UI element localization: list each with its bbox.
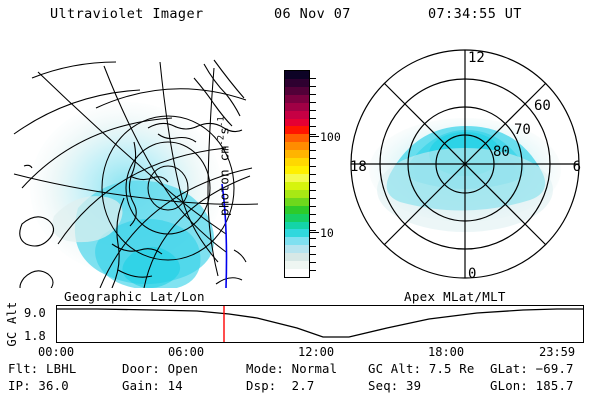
colorbar-tick (310, 94, 316, 95)
status-flt: Flt: LBHL (8, 362, 76, 376)
orbit-ytick-top: 9.0 (24, 306, 46, 320)
colorbar-tick (310, 110, 316, 111)
orbit-altitude-strip: GC Alt 9.0 1.8 00:00 06:00 12:00 18:00 2… (0, 300, 600, 358)
observation-time: 07:34:55 UT (428, 6, 522, 22)
colorbar-title-exp1: -2 (216, 135, 226, 146)
mlat-ring-label-70: 70 (514, 122, 531, 138)
status-seq: Seq: 39 (368, 379, 421, 393)
orbit-xtick-4: 23:59 (539, 345, 575, 359)
colorbar-band (285, 261, 309, 269)
colorbar-band (285, 174, 309, 182)
orbit-xtick-3: 18:00 (428, 345, 464, 359)
status-gcalt: GC Alt: 7.5 Re (368, 362, 474, 376)
colorbar-band (285, 253, 309, 261)
colorbar-band (285, 142, 309, 150)
colorbar-band (285, 119, 309, 127)
colorbar-tick (310, 206, 316, 207)
orbit-xtick-1: 06:00 (168, 345, 204, 359)
status-gain: Gain: 14 (122, 379, 183, 393)
mlt-label-6: 6 (573, 159, 581, 175)
colorbar-tick (310, 214, 316, 215)
colorbar-band (285, 103, 309, 111)
colorbar-tick (310, 262, 316, 263)
colorbar-gradient (285, 71, 309, 277)
status-panel: Flt: LBHL Door: Open Mode: Normal GC Alt… (0, 362, 600, 400)
colorbar-tick (310, 254, 316, 255)
mlat-ring-label-80: 80 (493, 144, 510, 160)
colorbar-tick-major-10 (310, 232, 319, 233)
colorbar-band (285, 269, 309, 277)
colorbar-band (285, 222, 309, 230)
colorbar-tick-major-100 (310, 136, 319, 137)
orbit-altitude-curve (57, 309, 583, 337)
orbit-plot-frame (56, 305, 584, 343)
colorbar-tick (310, 118, 316, 119)
colorbar-title-exp2: -1 (216, 116, 226, 127)
observation-date: 06 Nov 07 (274, 6, 351, 22)
colorbar-band (285, 206, 309, 214)
colorbar-tick (310, 78, 316, 79)
mlt-label-12: 12 (468, 50, 485, 66)
colorbar-title-mid: s (217, 127, 232, 135)
apex-dial-panel: 12 6 0 18 60 70 80 Apex MLat/MLT (338, 38, 592, 288)
colorbar-band (285, 214, 309, 222)
colorbar-band (285, 71, 309, 79)
colorbar-tick (310, 238, 316, 239)
header-bar: Ultraviolet Imager 06 Nov 07 07:34:55 UT (0, 6, 600, 28)
colorbar-tick (310, 190, 316, 191)
orbit-xtick-2: 12:00 (298, 345, 334, 359)
colorbar-tick (310, 198, 316, 199)
colorbar-band (285, 158, 309, 166)
colorbar-tick (310, 150, 316, 151)
colorbar-title-main: photon cm (217, 146, 232, 216)
colorbar-tick (310, 166, 316, 167)
colorbar-band (285, 134, 309, 142)
colorbar-tick-label-10: 10 (320, 228, 334, 240)
colorbar-band (285, 111, 309, 119)
status-glat: GLat: −69.7 (490, 362, 574, 376)
colorbar-band (285, 126, 309, 134)
status-mode: Mode: Normal (246, 362, 337, 376)
uvi-summary-plot: Ultraviolet Imager 06 Nov 07 07:34:55 UT (0, 0, 600, 400)
colorbar-tick (310, 182, 316, 183)
colorbar-tick (310, 222, 316, 223)
colorbar-tick (310, 134, 316, 135)
colorbar-band (285, 79, 309, 87)
colorbar-band (285, 198, 309, 206)
orbit-xtick-0: 00:00 (38, 345, 74, 359)
colorbar-band (285, 87, 309, 95)
colorbar-band (285, 182, 309, 190)
colorbar-tick (310, 126, 316, 127)
status-door: Door: Open (122, 362, 198, 376)
orbit-axis-title: GC Alt (5, 301, 19, 346)
colorbar-band (285, 150, 309, 158)
colorbar-tick (310, 142, 316, 143)
instrument-title: Ultraviolet Imager (50, 6, 204, 22)
colorbar-band (285, 237, 309, 245)
apex-plot-svg: 12 6 0 18 60 70 80 (338, 38, 592, 288)
colorbar-tick (310, 86, 316, 87)
colorbar-tick (310, 230, 316, 231)
colorbar-tick (310, 246, 316, 247)
orbit-altitude-svg (57, 306, 583, 342)
colorbar-band (285, 229, 309, 237)
colorbar-band (285, 166, 309, 174)
status-dsp: Dsp: 2.7 (246, 379, 314, 393)
colorbar-band (285, 95, 309, 103)
colorbar: photon cm-2s-1 100 10 (262, 62, 336, 288)
status-glon: GLon: 185.7 (490, 379, 574, 393)
colorbar-gradient-box (284, 70, 310, 278)
colorbar-ticks (310, 70, 318, 278)
status-ip: IP: 36.0 (8, 379, 69, 393)
mlat-ring-label-60: 60 (534, 98, 551, 114)
mlt-label-18: 18 (350, 159, 367, 175)
colorbar-tick (310, 102, 316, 103)
colorbar-axis-title: photon cm-2s-1 (216, 116, 231, 216)
colorbar-band (285, 190, 309, 198)
dial-spokes (351, 50, 579, 278)
colorbar-band (285, 245, 309, 253)
colorbar-tick (310, 270, 316, 271)
colorbar-tick (310, 174, 316, 175)
colorbar-tick (310, 158, 316, 159)
orbit-ytick-bottom: 1.8 (24, 329, 46, 343)
mlt-label-0: 0 (468, 266, 476, 282)
